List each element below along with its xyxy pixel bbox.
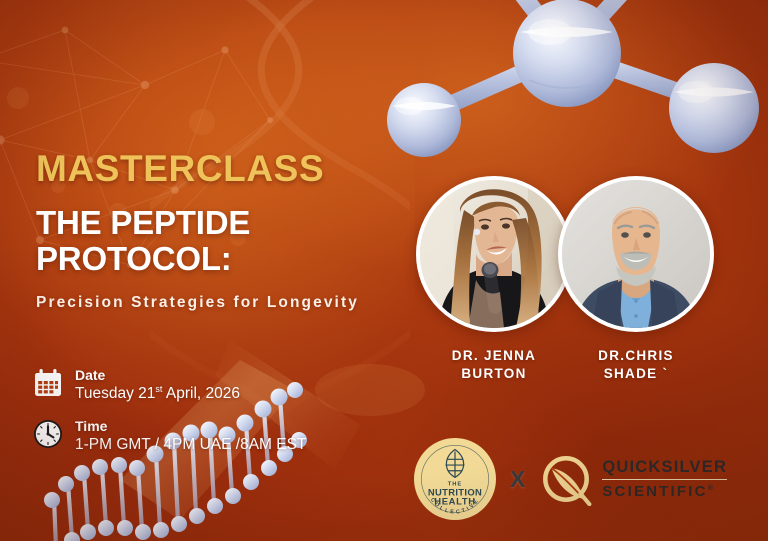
background-vignette <box>0 0 768 541</box>
webinar-promo-poster: MASTERCLASS THE PEPTIDE PROTOCOL: Precis… <box>0 0 768 541</box>
